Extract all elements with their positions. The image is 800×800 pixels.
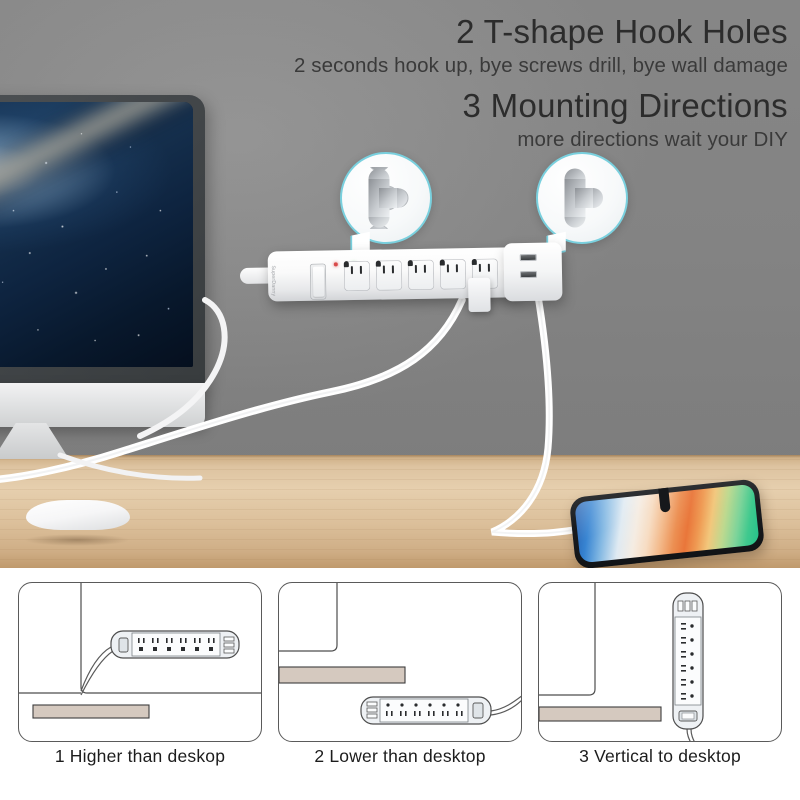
rocker-toggle[interactable] bbox=[312, 267, 324, 297]
outlet-slot-left bbox=[383, 266, 386, 274]
outlet-slot-right bbox=[360, 266, 363, 274]
mouse-shadow bbox=[24, 534, 130, 546]
panel-caption-2: 2 Lower than desktop bbox=[278, 746, 522, 767]
led-indicator-power bbox=[334, 262, 338, 266]
t-shape-hook-hole-icon bbox=[359, 167, 413, 229]
monitor-chin bbox=[0, 383, 205, 427]
plugged-adapter bbox=[468, 278, 491, 312]
outlet-slot-right bbox=[424, 265, 427, 273]
ac-outlet bbox=[376, 260, 403, 290]
outlet-slot-left bbox=[351, 266, 354, 274]
monitor-screen bbox=[0, 102, 193, 367]
galaxy-stars bbox=[0, 102, 193, 367]
callout-t-hook-hole-right bbox=[536, 152, 628, 244]
usb-port-lower bbox=[520, 271, 537, 278]
outlet-ground-pin bbox=[408, 260, 413, 266]
outlet-slot-left bbox=[447, 264, 450, 272]
usb-port-upper bbox=[520, 254, 537, 261]
outlet-ground-pin bbox=[344, 261, 349, 267]
panel-higher-than-desktop bbox=[18, 582, 262, 742]
outlet-slot-left bbox=[415, 265, 418, 273]
outlet-slot-right bbox=[456, 264, 459, 272]
outlet-slot-right bbox=[488, 264, 491, 272]
outlet-ground-pin bbox=[376, 261, 381, 267]
magic-mouse bbox=[20, 500, 132, 546]
power-switch[interactable] bbox=[310, 264, 327, 300]
t-shape-hook-hole-icon bbox=[555, 167, 609, 229]
brand-label: SuperDanny bbox=[270, 265, 277, 296]
monitor-bezel bbox=[0, 95, 205, 388]
outlet-ground-pin bbox=[440, 259, 445, 265]
hero-scene: 2 T-shape Hook Holes 2 seconds hook up, … bbox=[0, 0, 800, 568]
panel-vertical-to-desktop bbox=[538, 582, 782, 742]
mouse-top-surface bbox=[26, 500, 130, 530]
outlet-slot-right bbox=[392, 265, 395, 273]
panel-caption-3: 3 Vertical to desktop bbox=[538, 746, 782, 767]
phone-notch bbox=[658, 488, 670, 513]
desk-edge-shadow bbox=[0, 455, 800, 458]
ac-outlet bbox=[344, 261, 371, 291]
callout-t-hook-hole-left bbox=[340, 152, 432, 244]
outlet-slot-left bbox=[479, 264, 482, 272]
panel-lower-than-desktop bbox=[278, 582, 522, 742]
mounting-direction-panels: 1 Higher than deskop bbox=[0, 568, 800, 800]
power-strip-product: SuperDanny bbox=[267, 240, 560, 307]
outlet-ground-pin bbox=[472, 259, 477, 265]
headline-secondary: 3 Mounting Directions bbox=[188, 86, 788, 126]
ac-outlet bbox=[440, 259, 467, 289]
ac-outlet bbox=[408, 260, 435, 290]
headline-subtitle-2: more directions wait your DIY bbox=[188, 125, 788, 156]
panel-caption-1: 1 Higher than deskop bbox=[18, 746, 262, 767]
headline-subtitle-1: 2 seconds hook up, bye screws drill, bye… bbox=[188, 51, 788, 82]
headline-primary: 2 T-shape Hook Holes bbox=[188, 14, 788, 51]
imac-monitor bbox=[0, 95, 205, 425]
marketing-headline-block: 2 T-shape Hook Holes 2 seconds hook up, … bbox=[188, 14, 788, 156]
